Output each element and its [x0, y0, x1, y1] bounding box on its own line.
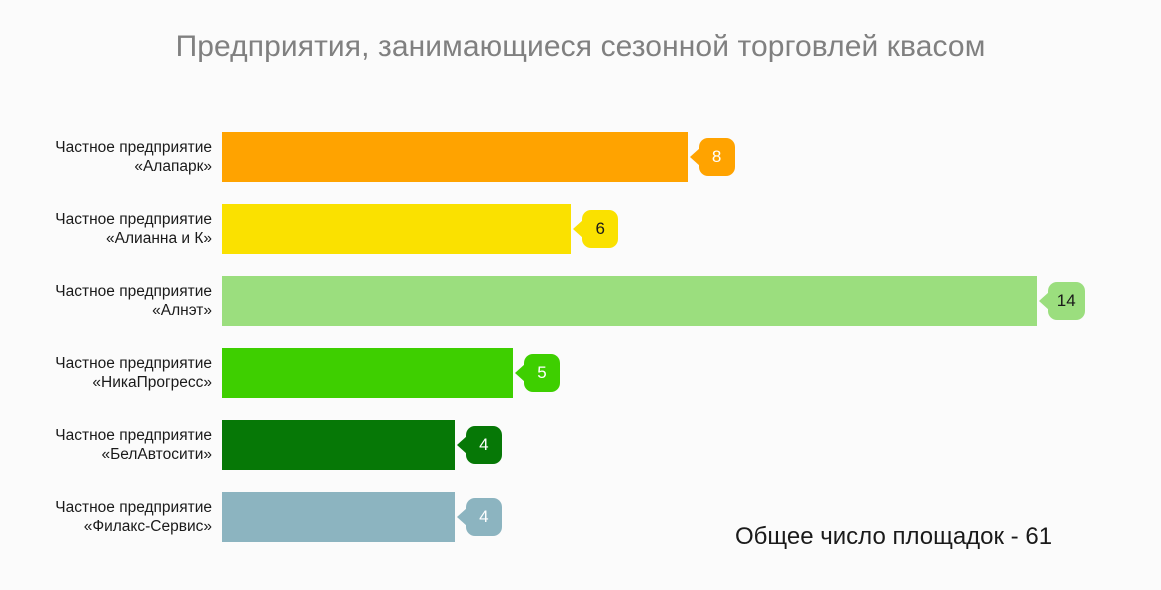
category-label: Частное предприятие«Алапарк»	[12, 132, 212, 182]
category-label-line1: Частное предприятие	[55, 210, 212, 229]
category-label: Частное предприятие«Алианна и К»	[12, 204, 212, 254]
category-label-line1: Частное предприятие	[55, 354, 212, 373]
bar-row: Частное предприятие«Алапарк»8	[0, 132, 1161, 182]
chart-title: Предприятия, занимающиеся сезонной торго…	[0, 30, 1161, 64]
category-label: Частное предприятие«НикаПрогресс»	[12, 348, 212, 398]
bar-row: Частное предприятие«Алианна и К»6	[0, 204, 1161, 254]
category-label-line2: «Алианна и К»	[106, 229, 212, 248]
bar-row: Частное предприятие«Алнэт»14	[0, 276, 1161, 326]
data-label-value: 4	[479, 507, 488, 527]
category-label-line2: «Алнэт»	[152, 301, 212, 320]
category-label-line2: «Филакс-Сервис»	[84, 517, 212, 536]
data-label-value: 4	[479, 435, 488, 455]
chart-container: Предприятия, занимающиеся сезонной торго…	[0, 0, 1161, 590]
bar[interactable]	[222, 420, 455, 470]
category-label: Частное предприятие«БелАвтосити»	[12, 420, 212, 470]
bar[interactable]	[222, 348, 513, 398]
data-label-value: 5	[537, 363, 546, 383]
data-label-callout: 4	[466, 426, 502, 464]
category-label-line1: Частное предприятие	[55, 138, 212, 157]
category-label-line1: Частное предприятие	[55, 282, 212, 301]
data-label-callout: 5	[524, 354, 560, 392]
bar-row: Частное предприятие«БелАвтосити»4	[0, 420, 1161, 470]
category-label-line2: «БелАвтосити»	[101, 445, 212, 464]
data-label-callout: 8	[699, 138, 735, 176]
bar[interactable]	[222, 276, 1037, 326]
bar[interactable]	[222, 492, 455, 542]
data-label-callout: 4	[466, 498, 502, 536]
bar-row: Частное предприятие«НикаПрогресс»5	[0, 348, 1161, 398]
category-label: Частное предприятие«Алнэт»	[12, 276, 212, 326]
total-count-annotation: Общее число площадок - 61	[735, 523, 1052, 551]
category-label-line1: Частное предприятие	[55, 498, 212, 517]
data-label-callout: 6	[582, 210, 618, 248]
category-label-line2: «НикаПрогресс»	[92, 373, 212, 392]
plot-area: Частное предприятие«Алапарк»8Частное пре…	[0, 132, 1161, 562]
data-label-value: 6	[595, 219, 604, 239]
data-label-value: 8	[712, 147, 721, 167]
data-label-callout: 14	[1048, 282, 1085, 320]
category-label: Частное предприятие«Филакс-Сервис»	[12, 492, 212, 542]
data-label-value: 14	[1057, 291, 1076, 311]
category-label-line1: Частное предприятие	[55, 426, 212, 445]
bar[interactable]	[222, 132, 688, 182]
bar[interactable]	[222, 204, 571, 254]
category-label-line2: «Алапарк»	[134, 157, 212, 176]
